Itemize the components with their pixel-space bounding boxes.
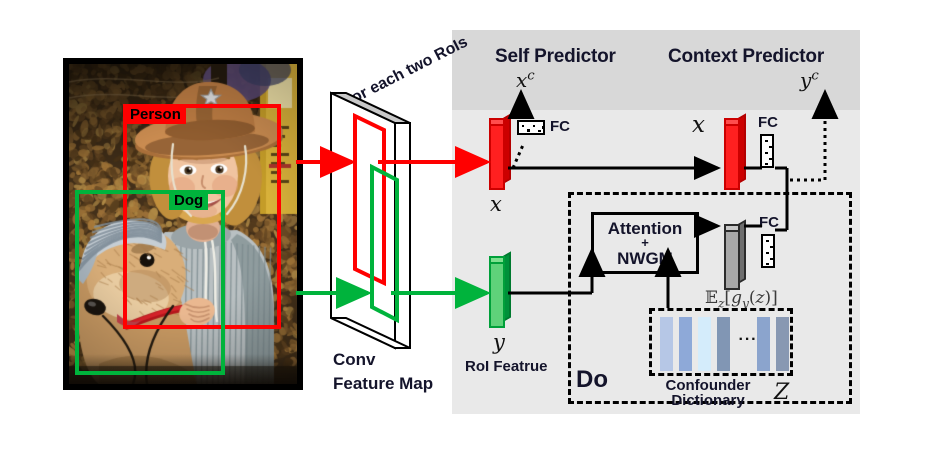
connector-overlay: [0, 0, 932, 452]
dotted-self-fc-in: [513, 145, 523, 168]
figure-canvas: Person Dog Self Predictor Context Predic…: [0, 0, 932, 452]
dotted-context-out: [790, 92, 825, 180]
